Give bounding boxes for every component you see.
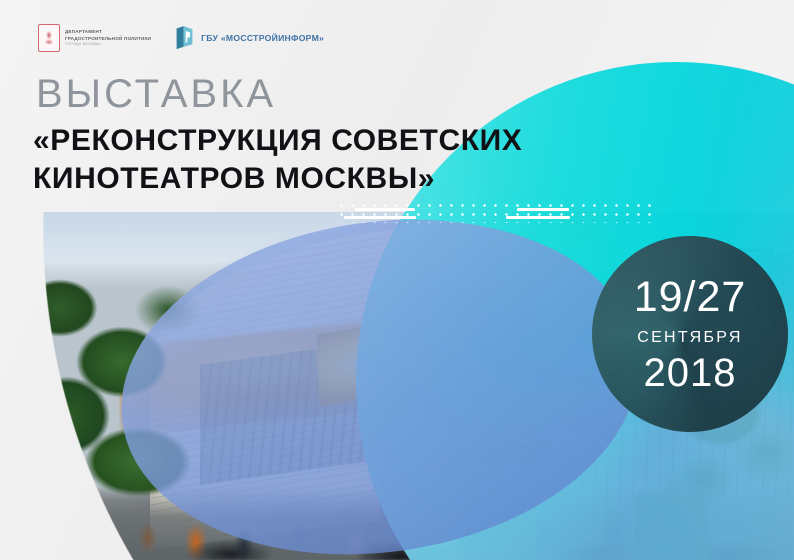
poster-canvas: ДЕПАРТАМЕНТ ГРАДОСТРОИТЕЛЬНОЙ ПОЛИТИКИ Г… bbox=[0, 0, 794, 560]
page-kicker: ВЫСТАВКА bbox=[36, 74, 276, 114]
gbu-logo[interactable]: ГБУ «МОССТРОЙИНФОРМ» bbox=[175, 25, 324, 51]
white-bar-decor-4 bbox=[506, 216, 570, 219]
department-logo-line1: ДЕПАРТАМЕНТ bbox=[65, 29, 151, 35]
dot-grid-decor bbox=[336, 200, 656, 223]
department-logo-line3: ГОРОДА МОСКВЫ bbox=[65, 42, 151, 47]
event-date-year: 2018 bbox=[644, 353, 737, 393]
logo-row: ДЕПАРТАМЕНТ ГРАДОСТРОИТЕЛЬНОЙ ПОЛИТИКИ Г… bbox=[38, 24, 324, 52]
white-bar-decor-1 bbox=[355, 208, 415, 211]
gbu-logo-text: ГБУ «МОССТРОЙИНФОРМ» bbox=[201, 33, 324, 43]
department-logo-text: ДЕПАРТАМЕНТ ГРАДОСТРОИТЕЛЬНОЙ ПОЛИТИКИ Г… bbox=[65, 29, 151, 47]
event-date-month: СЕНТЯБРЯ bbox=[637, 330, 743, 346]
page-title-line2: КИНОТЕАТРОВ МОСКВЫ» bbox=[33, 160, 573, 198]
page-title: «РЕКОНСТРУКЦИЯ СОВЕТСКИХ КИНОТЕАТРОВ МОС… bbox=[33, 122, 573, 198]
page-title-line1: «РЕКОНСТРУКЦИЯ СОВЕТСКИХ bbox=[33, 122, 573, 160]
moscow-coat-of-arms-icon bbox=[38, 24, 60, 52]
white-bar-decor-2 bbox=[344, 216, 416, 219]
book-mark-icon bbox=[175, 25, 194, 51]
white-bar-decor-3 bbox=[517, 208, 569, 211]
event-date-block: 19/27 СЕНТЯБРЯ 2018 bbox=[592, 236, 788, 432]
event-date-range: 19/27 bbox=[634, 276, 747, 319]
department-logo[interactable]: ДЕПАРТАМЕНТ ГРАДОСТРОИТЕЛЬНОЙ ПОЛИТИКИ Г… bbox=[38, 24, 151, 52]
department-logo-line2: ГРАДОСТРОИТЕЛЬНОЙ ПОЛИТИКИ bbox=[65, 36, 151, 42]
